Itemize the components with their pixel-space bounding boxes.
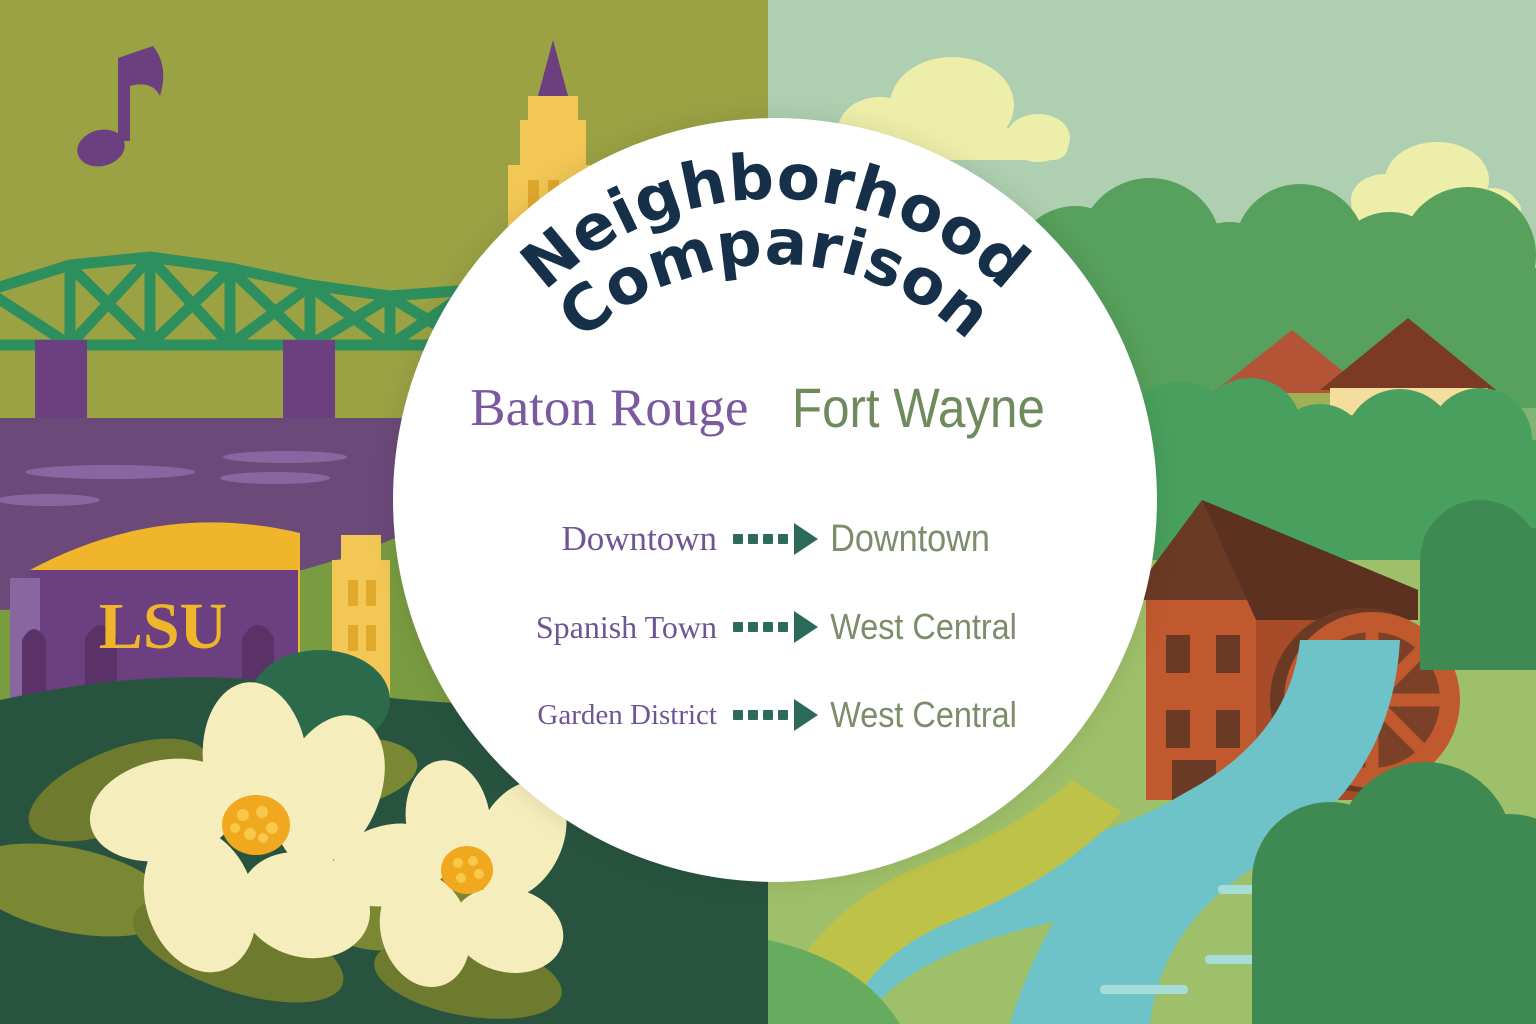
lsu-sign-text: LSU (99, 590, 227, 663)
neighborhood-right: Downtown (823, 518, 1124, 561)
comparison-list: Downtown Downtown Spanish Town West Cent… (393, 495, 1157, 759)
city-right-label: Fort Wayne (792, 380, 1045, 436)
comparison-row: Garden District West Central (393, 671, 1157, 759)
neighborhood-left: Downtown (393, 519, 727, 559)
comparison-row: Spanish Town West Central (393, 583, 1157, 671)
neighborhood-left: Garden District (393, 699, 727, 732)
dotted-arrow-right-icon (727, 611, 823, 643)
bridge-pier (35, 340, 87, 418)
bridge-pier (283, 340, 335, 418)
city-left-label: Baton Rouge (470, 382, 748, 435)
foreground-bush (1420, 500, 1536, 670)
neighborhood-right: West Central (823, 606, 1124, 648)
comparison-row: Downtown Downtown (393, 495, 1157, 583)
city-headings: Baton Rouge Fort Wayne (393, 368, 1157, 448)
neighborhood-left: Spanish Town (393, 609, 727, 646)
neighborhood-right: West Central (823, 694, 1124, 736)
dotted-arrow-right-icon (727, 523, 823, 555)
dotted-arrow-right-icon (727, 699, 823, 731)
infographic-canvas: LSU (0, 0, 1536, 1024)
